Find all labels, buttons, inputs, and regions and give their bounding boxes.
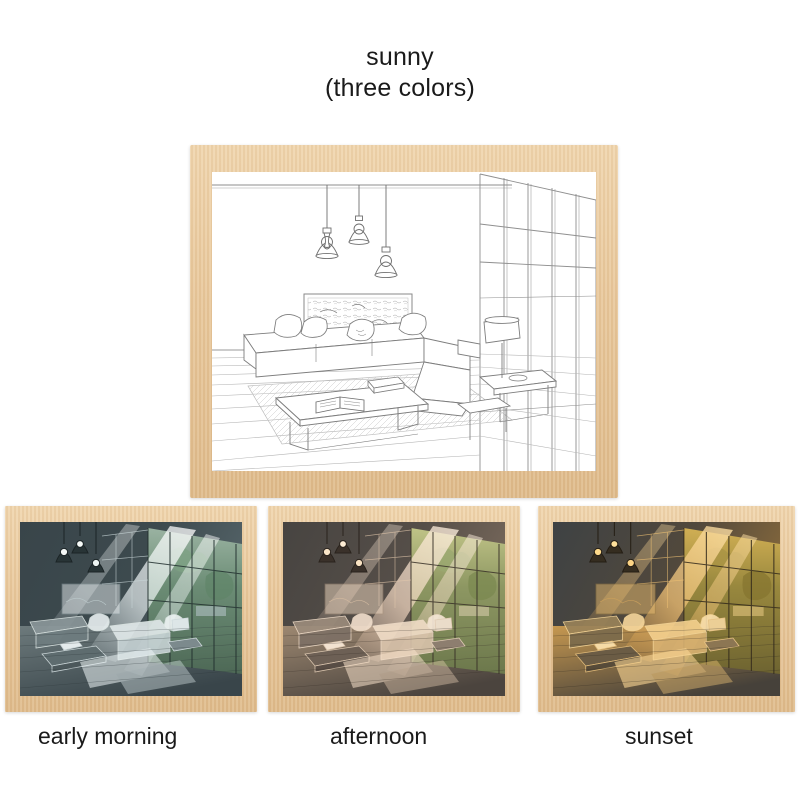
caption-early-morning: early morning (38, 723, 177, 750)
title-line-mode: sunny (0, 42, 800, 73)
main-product-frame[interactable] (190, 145, 618, 498)
variant-artwork-early-morning (20, 522, 242, 696)
variant-artwork-sunset (553, 522, 780, 696)
lit-room-scene-sunset (553, 522, 780, 696)
variant-frame-sunset[interactable] (538, 506, 795, 712)
caption-sunset: sunset (625, 723, 693, 750)
title-line-variants: (three colors) (0, 73, 800, 104)
variant-frame-afternoon[interactable] (268, 506, 520, 712)
variant-frame-early-morning[interactable] (5, 506, 257, 712)
lit-room-scene-afternoon (283, 522, 505, 696)
main-frame-artwork (212, 172, 596, 471)
page-title: sunny (three colors) (0, 42, 800, 104)
variant-artwork-afternoon (283, 522, 505, 696)
lit-room-scene-early-morning (20, 522, 242, 696)
lineart-living-room-scene (212, 172, 596, 471)
caption-afternoon: afternoon (330, 723, 427, 750)
